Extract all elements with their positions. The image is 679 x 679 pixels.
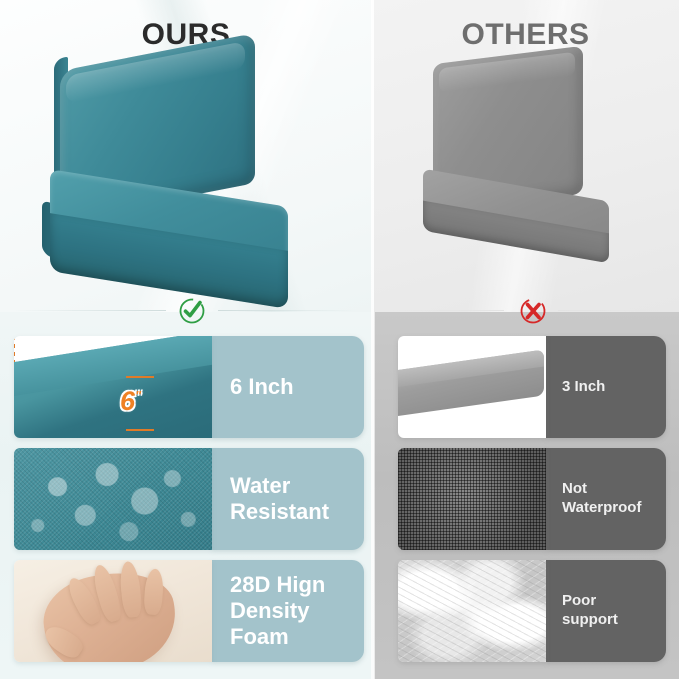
gray-cushion-edge-thumb xyxy=(398,336,546,438)
others-divider-rule-right xyxy=(558,310,666,311)
center-divider xyxy=(371,0,374,679)
ours-feature-label-foam: 28D Hign Density Foam xyxy=(212,560,364,662)
teal-cushion-edge-art xyxy=(14,336,212,438)
fiberfill-art xyxy=(398,560,546,662)
others-feature-label-water: Not Waterproof xyxy=(546,448,666,550)
ours-feature-line-1: 6 Inch xyxy=(230,374,294,399)
others-feature-row-water: Not Waterproof xyxy=(398,448,666,550)
ours-water-line-2: Resistant xyxy=(230,499,329,524)
others-water-line-1: Not xyxy=(562,480,587,497)
thickness-unit: " xyxy=(135,388,141,403)
others-support-line-2: support xyxy=(562,611,618,628)
comparison-infographic: OURS OTHERS 6" xyxy=(0,0,679,679)
ours-divider-rule-right xyxy=(218,310,358,311)
water-droplets-thumb xyxy=(14,448,212,550)
others-feature-line-1: 3 Inch xyxy=(562,378,605,395)
ours-hero-image xyxy=(38,52,328,297)
others-feature-label-support: Poor support xyxy=(546,560,666,662)
gray-mesh-art xyxy=(398,448,546,550)
ours-foam-line-1: 28D Hign xyxy=(230,572,325,597)
others-feature-label-thickness: 3 Inch xyxy=(546,336,666,438)
others-feature-row-thickness: 3 Inch xyxy=(398,336,666,438)
others-feature-row-support: Poor support xyxy=(398,560,666,662)
dimension-tick-bottom xyxy=(126,429,154,431)
others-water-line-2: Waterproof xyxy=(562,499,641,516)
water-droplets-art xyxy=(14,448,212,550)
ours-feature-row-foam: 28D Hign Density Foam xyxy=(14,560,364,662)
thickness-callout: 6" xyxy=(120,386,141,417)
dimension-tick-top xyxy=(126,376,154,378)
hand-on-foam-thumb xyxy=(14,560,212,662)
ours-feature-row-water: Water Resistant xyxy=(14,448,364,550)
others-divider-rule-left xyxy=(392,310,504,311)
fiberfill-thumb xyxy=(398,560,546,662)
x-circle-icon xyxy=(518,296,548,326)
ours-feature-label-thickness: 6 Inch xyxy=(212,336,364,438)
others-header: OTHERS xyxy=(372,18,679,52)
others-support-line-1: Poor xyxy=(562,592,596,609)
ours-divider-rule-left xyxy=(14,310,166,311)
others-hero-image xyxy=(415,55,630,285)
thickness-value: 6 xyxy=(120,386,135,416)
gray-cushion-edge-art xyxy=(398,349,544,416)
ours-feature-row-thickness: 6" 6 Inch xyxy=(14,336,364,438)
ours-foam-line-2: Density Foam xyxy=(230,598,309,649)
ours-feature-label-water: Water Resistant xyxy=(212,448,364,550)
teal-cushion-edge-thumb: 6" xyxy=(14,336,212,438)
ours-water-line-1: Water xyxy=(230,473,290,498)
check-circle-icon xyxy=(177,296,207,326)
gray-mesh-thumb xyxy=(398,448,546,550)
